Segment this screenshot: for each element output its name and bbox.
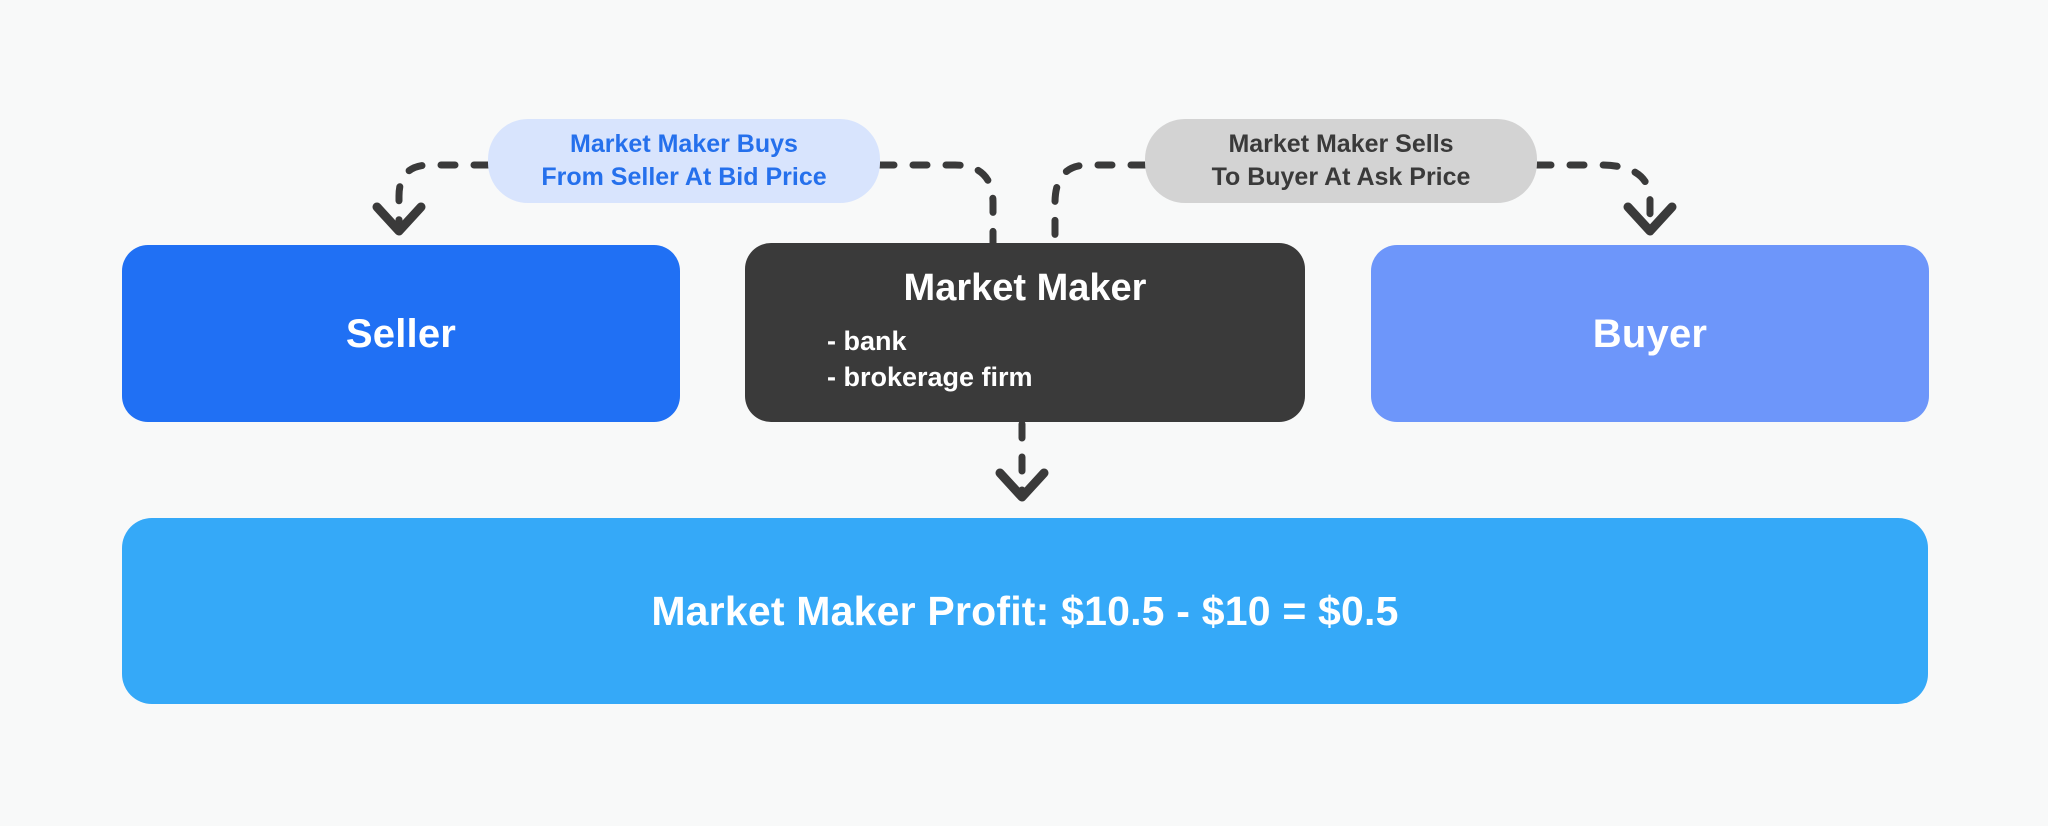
ask-label-line1: Market Maker Sells	[1212, 128, 1471, 162]
arrowhead-seller	[377, 207, 421, 231]
ask-label-line2: To Buyer At Ask Price	[1212, 161, 1471, 195]
market-maker-bullet-brokerage: - brokerage firm	[827, 360, 1033, 396]
bid-label-line1: Market Maker Buys	[541, 128, 826, 162]
market-maker-bullets: - bank - brokerage firm	[827, 324, 1033, 395]
seller-label: Seller	[346, 312, 456, 356]
market-maker-label: Market Maker	[904, 267, 1147, 310]
connector-bid-to-seller	[399, 165, 488, 228]
market-maker-bullet-bank: - bank	[827, 324, 1033, 360]
diagram-canvas: Market Maker Buys From Seller At Bid Pri…	[0, 0, 2048, 826]
node-seller: Seller	[122, 245, 680, 422]
label-market-maker-buys: Market Maker Buys From Seller At Bid Pri…	[488, 119, 880, 203]
bid-label-line2: From Seller At Bid Price	[541, 161, 826, 195]
node-buyer: Buyer	[1371, 245, 1929, 422]
node-market-maker: Market Maker - bank - brokerage firm	[745, 243, 1305, 422]
connector-bid-to-maker	[880, 165, 993, 249]
buyer-label: Buyer	[1593, 312, 1707, 356]
arrowhead-profit	[1000, 473, 1044, 497]
connector-ask-to-buyer	[1537, 165, 1650, 228]
profit-label: Market Maker Profit: $10.5 - $10 = $0.5	[651, 588, 1398, 635]
node-market-maker-profit: Market Maker Profit: $10.5 - $10 = $0.5	[122, 518, 1928, 704]
label-market-maker-sells: Market Maker Sells To Buyer At Ask Price	[1145, 119, 1537, 203]
arrowhead-buyer	[1628, 207, 1672, 231]
connector-ask-to-maker	[1055, 165, 1145, 249]
